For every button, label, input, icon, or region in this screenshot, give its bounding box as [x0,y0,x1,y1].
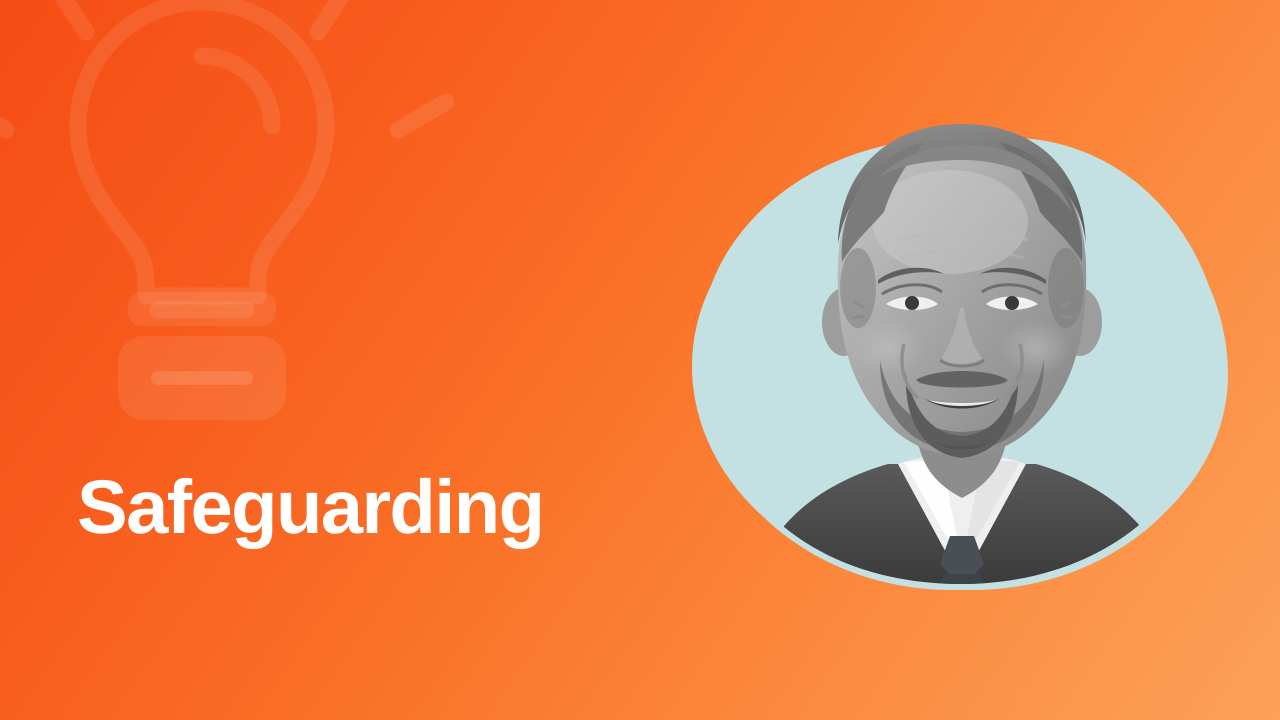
cheek-left [852,320,924,376]
avatar [692,112,1232,588]
cheek-right [1000,320,1072,376]
iris-right [1005,296,1019,310]
forehead-highlight [872,170,1028,274]
headline-line-1: Safeguarding [77,458,574,558]
page-title: Safeguarding Sensitive Data [77,258,574,720]
slide-canvas: Safeguarding Sensitive Data [0,0,1280,720]
necktie [936,574,988,588]
speaker-portrait [692,112,1232,588]
iris-left [905,296,919,310]
